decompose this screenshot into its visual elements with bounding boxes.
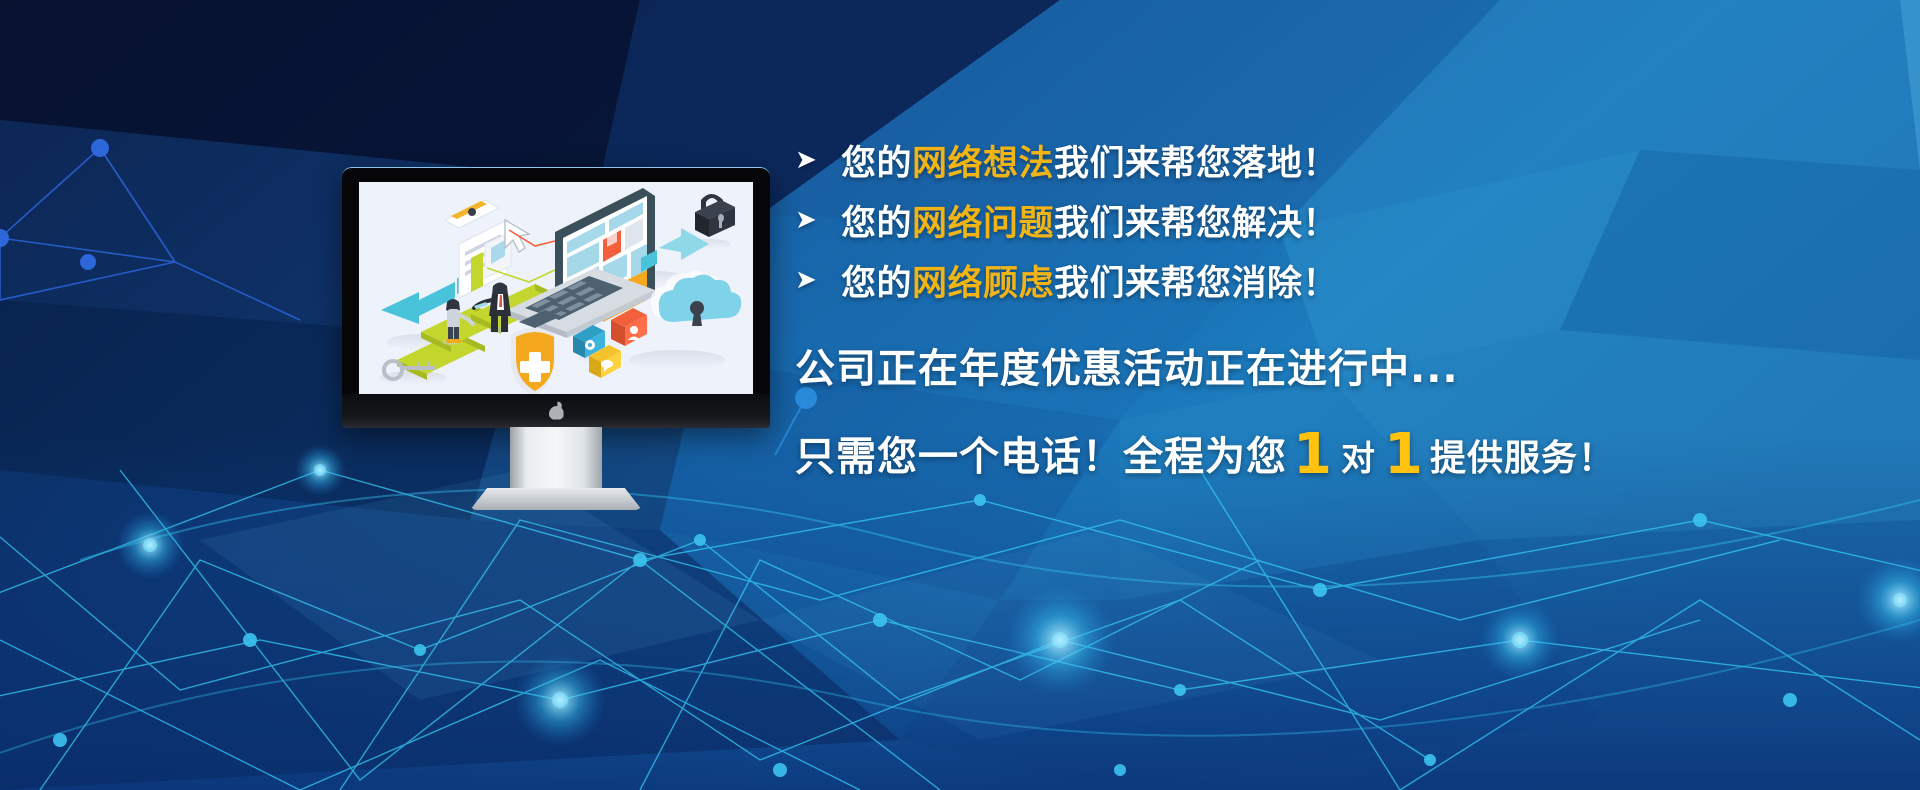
promo-tail: 提供服务！ — [1430, 438, 1615, 479]
arrow-right-triangle-icon: ➤ — [795, 267, 841, 293]
promo-lead: 只需您一个电话！全程为您 — [795, 434, 1287, 480]
arrow-right-triangle-icon: ➤ — [795, 147, 841, 173]
bullet-item-3: ➤ 您的网络顾虑我们来帮您消除！ — [795, 250, 1875, 310]
bullet-highlight-3: 网络顾虑 — [912, 264, 1054, 304]
bullet-text-1: 您的网络想法我们来帮您落地！ — [841, 135, 1338, 186]
promo-line-2: 只需您一个电话！全程为您1对1提供服务！ — [795, 424, 1875, 482]
promo-number-first: 1 — [1287, 422, 1339, 487]
promo-line-1: 公司正在年度优惠活动正在进行中... — [795, 336, 1875, 394]
monitor-chin — [342, 394, 770, 428]
bullet-text-2: 您的网络问题我们来帮您解决！ — [841, 195, 1338, 246]
arrow-right-triangle-icon: ➤ — [795, 207, 841, 233]
promo-banner: ➤ 您的网络想法我们来帮您落地！ ➤ 您的网络问题我们来帮您解决！ ➤ 您的网络… — [0, 0, 1920, 790]
bullet-text-3: 您的网络顾虑我们来帮您消除！ — [841, 255, 1338, 306]
bullet-highlight-1: 网络想法 — [912, 144, 1054, 184]
monitor-screen — [359, 182, 753, 394]
bullet-item-1: ➤ 您的网络想法我们来帮您落地！ — [795, 130, 1875, 190]
bullet-item-2: ➤ 您的网络问题我们来帮您解决！ — [795, 190, 1875, 250]
apple-logo-icon — [549, 403, 564, 420]
monitor-stand-base — [470, 488, 642, 510]
promo-number-second: 1 — [1378, 422, 1430, 487]
promo-middle: 对 — [1339, 439, 1378, 479]
marketing-copy: ➤ 您的网络想法我们来帮您落地！ ➤ 您的网络问题我们来帮您解决！ ➤ 您的网络… — [795, 130, 1875, 482]
imac-monitor — [342, 167, 770, 428]
bullet-highlight-2: 网络问题 — [912, 204, 1054, 244]
isometric-network-illustration — [359, 182, 753, 394]
